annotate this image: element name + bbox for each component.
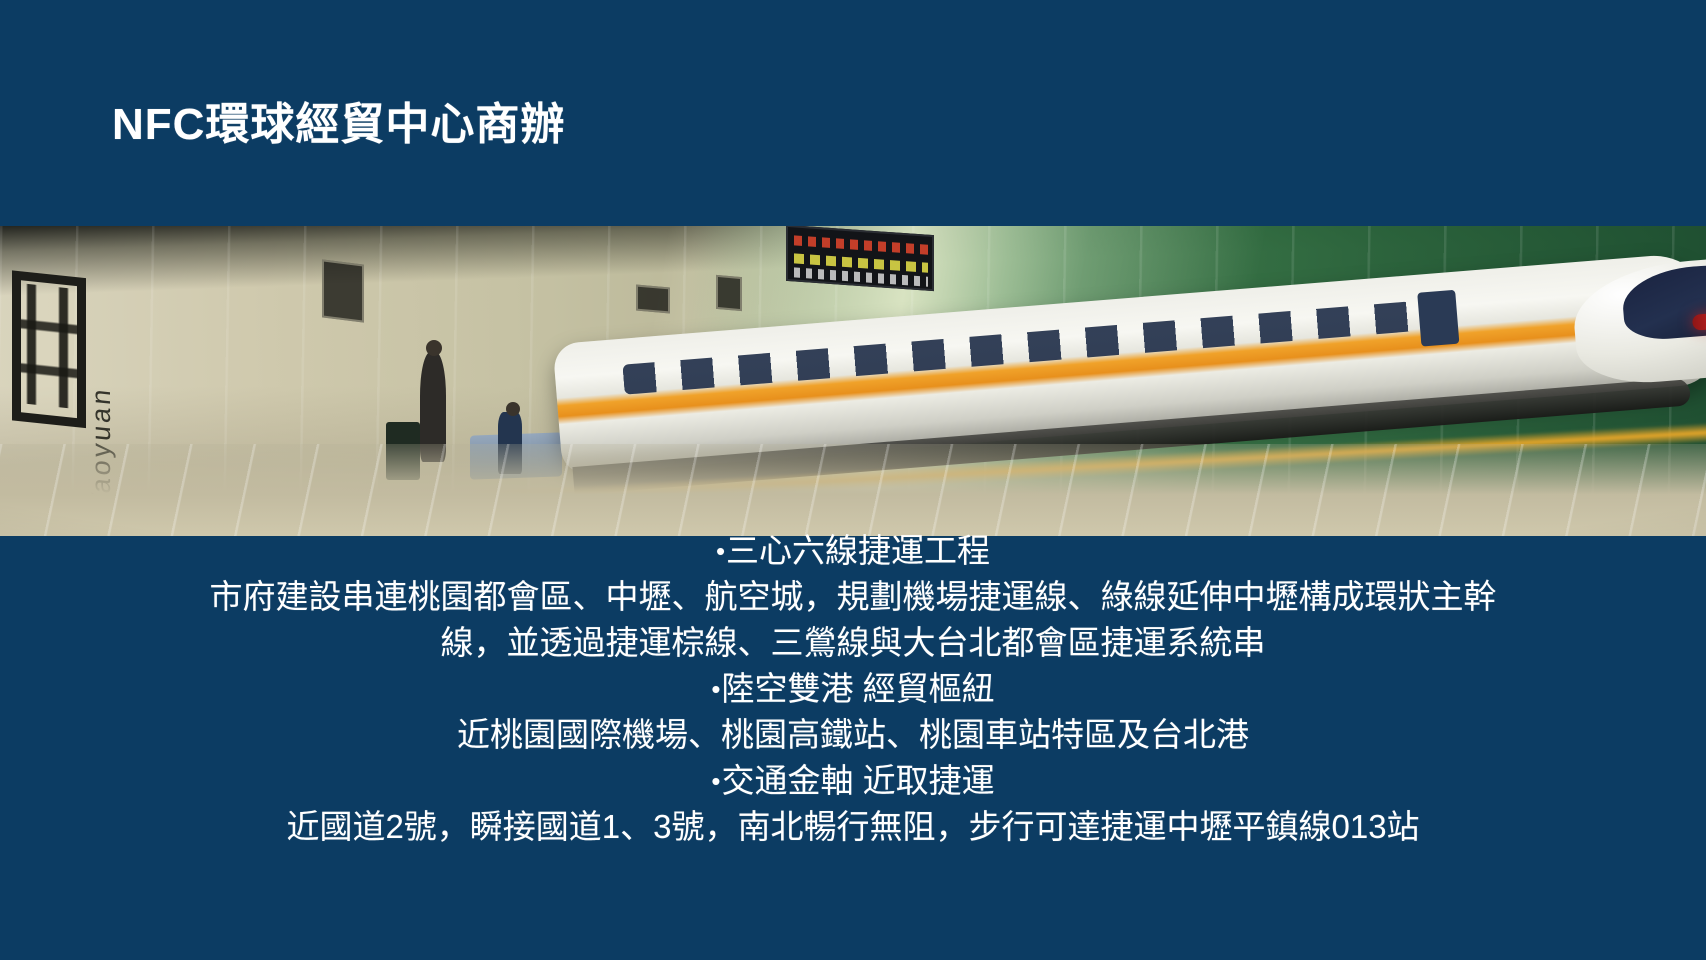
body-bullet-line: 交通金軸 近取捷運 bbox=[0, 758, 1706, 804]
body-detail-line: 近桃園國際機場、桃園高鐵站、桃園車站特區及台北港 bbox=[0, 712, 1706, 758]
body-bullet-line: 陸空雙港 經貿樞紐 bbox=[0, 666, 1706, 712]
body-text-lines: 三心六線捷運工程市府建設串連桃園都會區、中壢、航空城，規劃機場捷運線、綠線延伸中… bbox=[0, 528, 1706, 850]
body-text-area: 三心六線捷運工程市府建設串連桃園都會區、中壢、航空城，規劃機場捷運線、綠線延伸中… bbox=[0, 536, 1706, 960]
presentation-slide: NFC環球經貿中心商辦 Taoyuan bbox=[0, 0, 1706, 960]
page-title: NFC環球經貿中心商辦 bbox=[112, 88, 565, 152]
body-bullet-line: 三心六線捷運工程 bbox=[0, 528, 1706, 574]
title-band: NFC環球經貿中心商辦 bbox=[0, 0, 1706, 226]
station-photo: Taoyuan bbox=[0, 226, 1706, 536]
body-detail-line: 線，並透過捷運棕線、三鶯線與大台北都會區捷運系統串 bbox=[0, 620, 1706, 666]
body-detail-line: 近國道2號，瞬接國道1、3號，南北暢行無阻，步行可達捷運中壢平鎮線013站 bbox=[0, 804, 1706, 850]
photo-vignette bbox=[0, 226, 1706, 536]
body-detail-line: 市府建設串連桃園都會區、中壢、航空城，規劃機場捷運線、綠線延伸中壢構成環狀主幹 bbox=[0, 574, 1706, 620]
